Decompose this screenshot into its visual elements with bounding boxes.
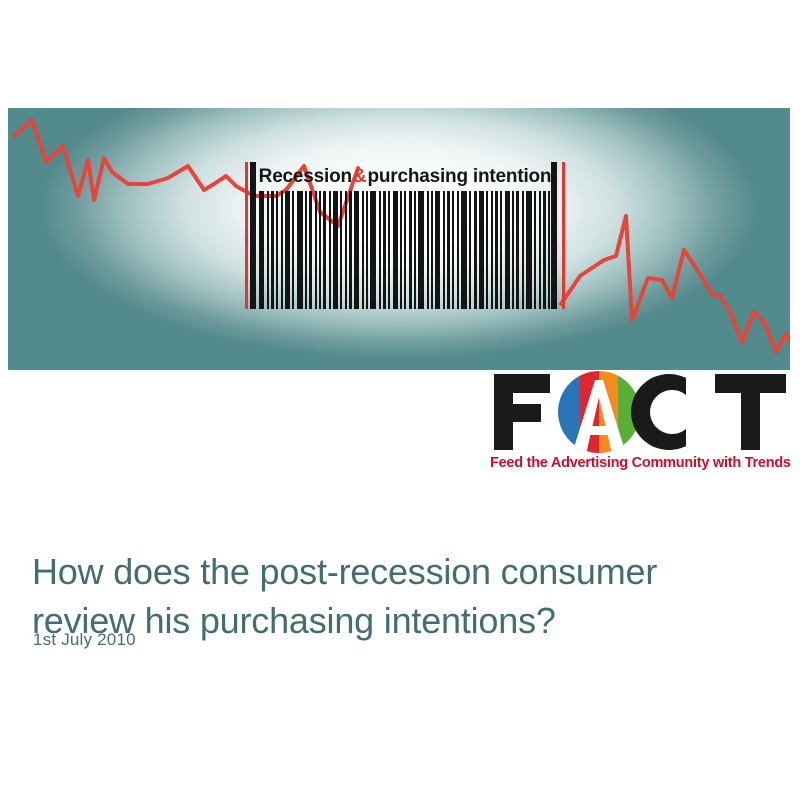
barcode-bar [522, 191, 524, 309]
barcode-graphic: Recession & purchasing intention [245, 162, 565, 309]
barcode-bar [315, 191, 317, 309]
page-title-line-2: review his purchasing intentions? [32, 596, 752, 645]
barcode-bar [427, 191, 429, 309]
recession-banner-image: Recession & purchasing intention [8, 108, 790, 370]
barcode-bar [354, 191, 359, 309]
barcode-bar [431, 191, 433, 309]
barcode-bar [505, 191, 510, 309]
fact-logo: Feed the Advertising Community with Tren… [490, 370, 790, 480]
barcode-label-prefix: Recession [259, 167, 352, 186]
barcode-bar [281, 191, 283, 309]
barcode-label-ampersand: & [352, 167, 368, 186]
page-title-line-1: How does the post-recession consumer [32, 551, 657, 592]
barcode-bar [370, 191, 376, 309]
barcode-bar [305, 191, 307, 309]
barcode-bar [500, 191, 502, 309]
presentation-date: 1st July 2010 [33, 630, 136, 650]
logo-letter-t [715, 374, 786, 450]
barcode-end-bar-right [551, 162, 557, 309]
barcode-bar [491, 191, 493, 309]
barcode-bar [479, 191, 484, 309]
barcode-label-suffix: purchasing intention [367, 167, 551, 186]
barcode-bar [435, 191, 440, 309]
barcode-bar [285, 191, 290, 309]
barcode-bar [379, 191, 381, 309]
barcode-bar [495, 191, 498, 309]
barcode-bar [259, 191, 264, 309]
barcode-bar [526, 191, 532, 309]
barcode-bars [259, 191, 551, 309]
barcode-cap-line-right [562, 162, 565, 309]
barcode-bar [452, 191, 454, 309]
barcode-bar [469, 191, 471, 309]
barcode-cap-line-left [245, 162, 248, 309]
barcode-end-bar-left [250, 162, 256, 309]
index-line-right [561, 216, 790, 360]
barcode-bar [276, 191, 278, 309]
fact-logo-tagline: Feed the Advertising Community with Tren… [490, 455, 790, 471]
barcode-bar [474, 191, 477, 309]
barcode-bar [516, 191, 519, 309]
barcode-bar [345, 191, 347, 309]
barcode-bar [443, 191, 445, 309]
barcode-bar [271, 191, 274, 309]
barcode-bar [329, 191, 331, 309]
barcode-bar [340, 191, 342, 309]
barcode-bar [319, 191, 321, 309]
barcode-bar [297, 191, 303, 309]
logo-letter-c [631, 374, 686, 450]
barcode-bar [362, 191, 364, 309]
barcode-bar [400, 191, 402, 309]
slide-canvas: Recession & purchasing intention [0, 0, 800, 800]
fact-wordmark [490, 370, 790, 454]
barcode-bar [447, 191, 450, 309]
barcode-bar [388, 191, 390, 309]
barcode-bar [543, 191, 546, 309]
barcode-bar [461, 191, 467, 309]
barcode-bar [409, 191, 412, 309]
barcode-bar [393, 191, 398, 309]
barcode-bar [309, 191, 312, 309]
barcode-bar [539, 191, 541, 309]
barcode-bar [457, 191, 459, 309]
barcode-bar [512, 191, 514, 309]
logo-letter-f [494, 374, 550, 450]
page-title: How does the post-recession consumer rev… [32, 547, 752, 645]
barcode-bar [548, 191, 550, 309]
barcode-bar [534, 191, 536, 309]
barcode-bar [414, 191, 416, 309]
barcode-label: Recession & purchasing intention [261, 163, 549, 190]
barcode-bar [383, 191, 386, 309]
barcode-bar [486, 191, 488, 309]
barcode-bar [366, 191, 368, 309]
barcode-bar [349, 191, 352, 309]
barcode-bar [333, 191, 338, 309]
barcode-bar [418, 191, 424, 309]
barcode-bar [323, 191, 326, 309]
barcode-bar [292, 191, 294, 309]
barcode-bar [404, 191, 406, 309]
barcode-bar [267, 191, 269, 309]
